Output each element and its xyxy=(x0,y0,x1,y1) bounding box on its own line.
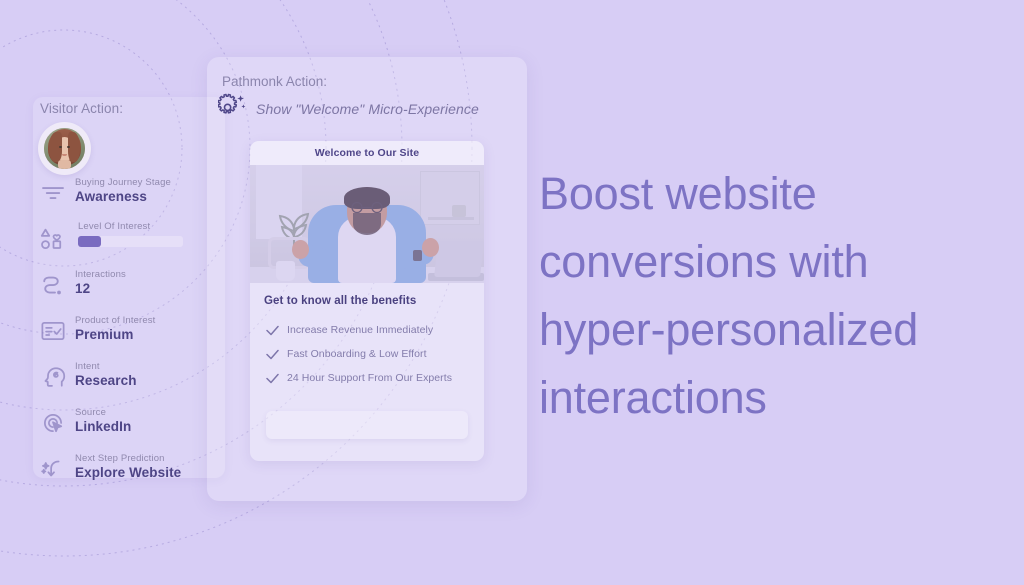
pathmonk-action-subtitle: Show "Welcome" Micro-Experience xyxy=(256,101,479,117)
level-of-interest-bar-fill xyxy=(78,236,101,247)
headline-line: interactions xyxy=(539,364,1009,432)
micro-experience-photo xyxy=(250,165,484,283)
attribute-value: Explore Website xyxy=(75,465,181,480)
check-icon xyxy=(264,323,281,338)
micro-experience-preview: Welcome to Our Site xyxy=(250,141,484,461)
cursor-target-icon xyxy=(38,408,68,438)
attribute-value: Awareness xyxy=(75,189,147,204)
attribute-row-intent: Intent Research xyxy=(33,358,225,404)
benefit-item: Fast Onboarding & Low Effort xyxy=(264,342,470,366)
brain-head-icon xyxy=(38,362,68,392)
check-icon xyxy=(264,371,281,386)
attribute-value: Premium xyxy=(75,327,133,342)
attribute-row-source: Source LinkedIn xyxy=(33,404,225,450)
pathmonk-action-title: Pathmonk Action: xyxy=(222,74,327,89)
benefits-title: Get to know all the benefits xyxy=(264,295,470,307)
attribute-label: Source xyxy=(75,407,106,418)
gear-sparkle-icon xyxy=(218,92,250,120)
headline: Boost website conversions with hyper-per… xyxy=(539,160,1009,432)
micro-experience-header: Welcome to Our Site xyxy=(250,141,484,165)
micro-experience-cta-button[interactable] xyxy=(266,411,468,439)
slide-canvas: Visitor Action: Buying Journey Stage Awa… xyxy=(0,0,1024,585)
visitor-action-title: Visitor Action: xyxy=(40,101,123,116)
headline-line: hyper-personalized xyxy=(539,296,1009,364)
interaction-node-icon xyxy=(38,270,68,300)
level-of-interest-bar xyxy=(78,236,183,247)
funnel-icon xyxy=(38,178,68,208)
benefit-item: 24 Hour Support From Our Experts xyxy=(264,366,470,390)
attribute-value: Research xyxy=(75,373,137,388)
benefit-label: Increase Revenue Immediately xyxy=(287,324,433,336)
checklist-icon xyxy=(38,316,68,346)
sparkle-arrow-icon xyxy=(38,454,68,484)
attribute-row-level-of-interest: Level Of Interest xyxy=(33,220,225,266)
attribute-label: Product of Interest xyxy=(75,315,155,326)
attribute-row-interactions: Interactions 12 xyxy=(33,266,225,312)
check-icon xyxy=(264,347,281,362)
avatar xyxy=(38,122,91,175)
visitor-attribute-list: Buying Journey Stage Awareness Level Of … xyxy=(33,174,225,496)
attribute-row-next-step-prediction: Next Step Prediction Explore Website xyxy=(33,450,225,496)
headline-line: Boost website xyxy=(539,160,1009,228)
attribute-label: Next Step Prediction xyxy=(75,453,165,464)
micro-experience-body: Get to know all the benefits Increase Re… xyxy=(250,283,484,390)
benefit-label: Fast Onboarding & Low Effort xyxy=(287,348,427,360)
headline-line: conversions with xyxy=(539,228,1009,296)
attribute-label: Buying Journey Stage xyxy=(75,177,171,188)
shapes-icon xyxy=(38,224,68,254)
attribute-label: Level Of Interest xyxy=(78,221,150,232)
attribute-row-product-of-interest: Product of Interest Premium xyxy=(33,312,225,358)
attribute-label: Interactions xyxy=(75,269,126,280)
attribute-value: 12 xyxy=(75,281,90,296)
benefit-item: Increase Revenue Immediately xyxy=(264,318,470,342)
attribute-row-buying-journey-stage: Buying Journey Stage Awareness xyxy=(33,174,225,220)
attribute-label: Intent xyxy=(75,361,100,372)
benefit-label: 24 Hour Support From Our Experts xyxy=(287,372,452,384)
attribute-value: LinkedIn xyxy=(75,419,131,434)
